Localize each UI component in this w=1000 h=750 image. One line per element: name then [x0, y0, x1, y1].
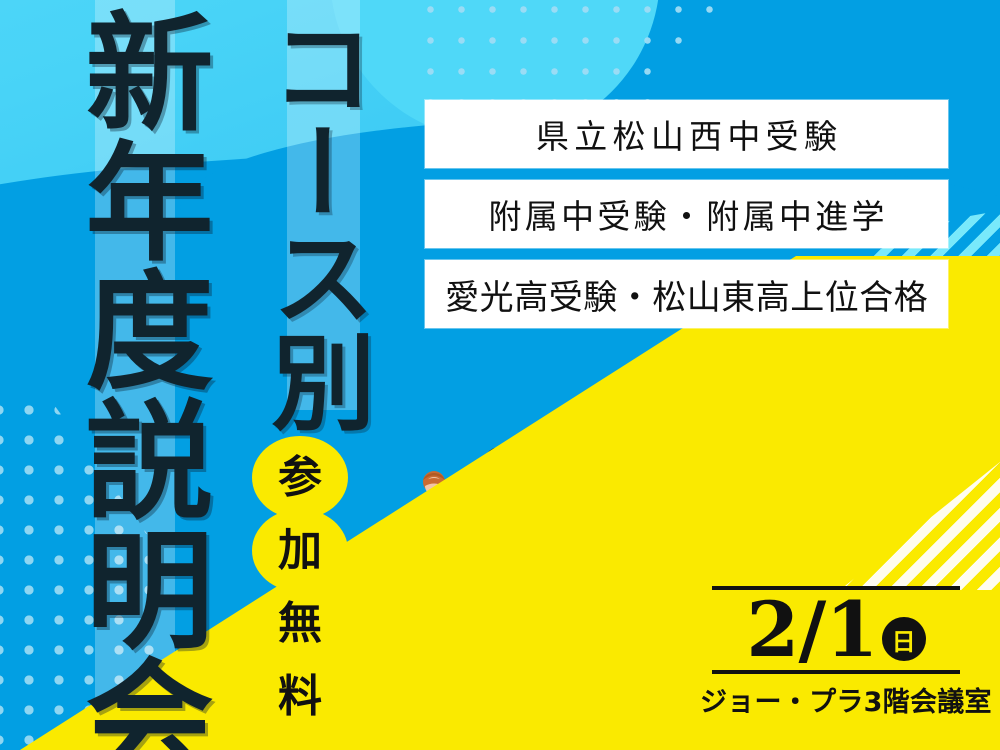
free-badge-char-1: 参 [278, 456, 322, 500]
course-box-1: 県立松山西中受験 [425, 100, 948, 168]
free-badge-circle-1: 参 [252, 436, 348, 519]
free-badge-circle-3: 無 [252, 582, 348, 665]
free-badge-circle-4: 料 [252, 655, 348, 738]
free-badge-circle-2: 加 [252, 509, 348, 592]
headline-vertical-main: 新年度説明会 [74, 6, 202, 750]
free-badge-char-4: 料 [278, 675, 322, 719]
event-poster: 新年度説明会 コース別 県立松山西中受験 附属中受験・附属中進学 愛光高受験・松… [0, 0, 1000, 750]
event-date: 2/1 [746, 594, 877, 666]
weekday-badge: 日 [882, 617, 926, 661]
date-venue-block: 2/1 日 ジョー・プラ3階会議室 [700, 586, 972, 719]
date-row: 2/1 日 [700, 594, 972, 666]
course-label-1: 県立松山西中受験 [531, 110, 843, 158]
course-box-3: 愛光高受験・松山東高上位合格 [425, 260, 948, 328]
headline-vertical-sub: コース別 [262, 14, 366, 434]
free-badge-char-3: 無 [278, 602, 322, 646]
venue-text: ジョー・プラ3階会議室 [700, 680, 972, 719]
free-participation-badge: 参 加 無 料 [252, 436, 348, 728]
free-badge-char-2: 加 [278, 529, 322, 573]
course-label-2: 附属中受験・附属中進学 [485, 190, 888, 238]
course-list: 県立松山西中受験 附属中受験・附属中進学 愛光高受験・松山東高上位合格 [425, 100, 948, 340]
course-label-3: 愛光高受験・松山東高上位合格 [445, 270, 929, 319]
course-box-2: 附属中受験・附属中進学 [425, 180, 948, 248]
